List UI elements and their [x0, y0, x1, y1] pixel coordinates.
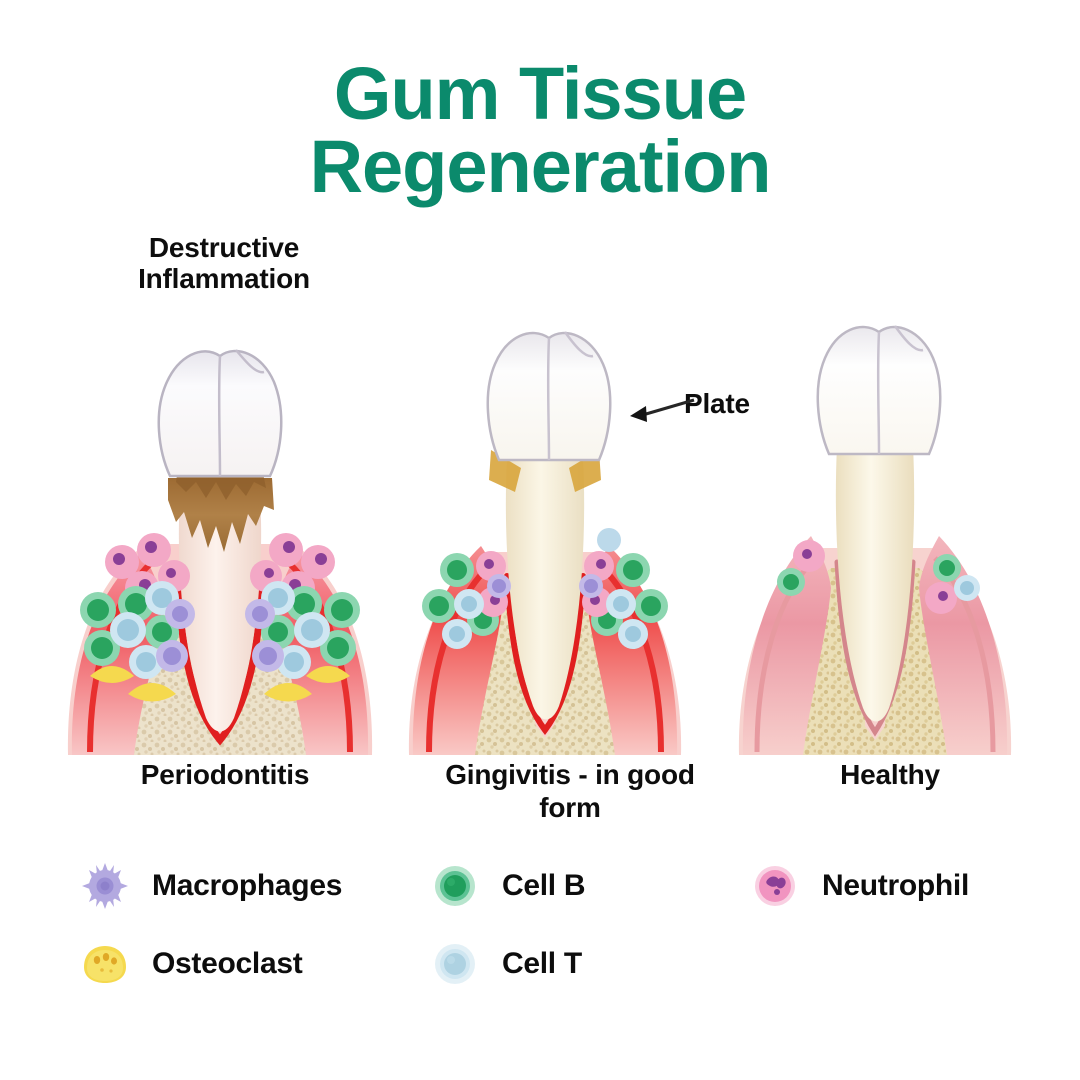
plate-deposit-marker [597, 528, 621, 552]
legend-item-macrophages: Macrophages [78, 859, 342, 913]
legend-label-cell-b: Cell B [502, 869, 585, 903]
callout-destructive-inflammation: Destructive Inflammation [94, 232, 354, 295]
panel-caption-gingivitis: Gingivitis - in good form [430, 758, 710, 824]
legend-item-cell-b: Cell B [428, 859, 585, 913]
legend-item-neutrophil: Neutrophil [748, 859, 969, 913]
cell-type-legend: Macrophages Osteoclast [0, 845, 1080, 1005]
tooth-diagram-healthy [725, 320, 1025, 760]
legend-label-osteoclast: Osteoclast [152, 947, 302, 981]
cell-t-icon [428, 937, 482, 991]
macrophage-cell-icon [78, 859, 132, 913]
panel-caption-periodontitis: Periodontitis [90, 758, 360, 791]
legend-label-macrophages: Macrophages [152, 869, 342, 903]
panel-caption-healthy: Healthy [760, 758, 1020, 791]
legend-item-cell-t: Cell T [428, 937, 582, 991]
neutrophil-cell-icon [748, 859, 802, 913]
tooth-diagram-gingivitis [395, 320, 695, 760]
title-line-1: Gum Tissue [334, 52, 746, 135]
infographic-canvas: Gum Tissue Regeneration Destructive Infl… [0, 0, 1080, 1080]
legend-item-osteoclast: Osteoclast [78, 937, 302, 991]
cell-b-icon [428, 859, 482, 913]
tooth-diagram-periodontitis [50, 300, 390, 760]
legend-label-cell-t: Cell T [502, 947, 582, 981]
legend-label-neutrophil: Neutrophil [822, 869, 969, 903]
page-title: Gum Tissue Regeneration [0, 58, 1080, 203]
osteoclast-cell-icon [78, 937, 132, 991]
title-line-2: Regeneration [0, 131, 1080, 204]
